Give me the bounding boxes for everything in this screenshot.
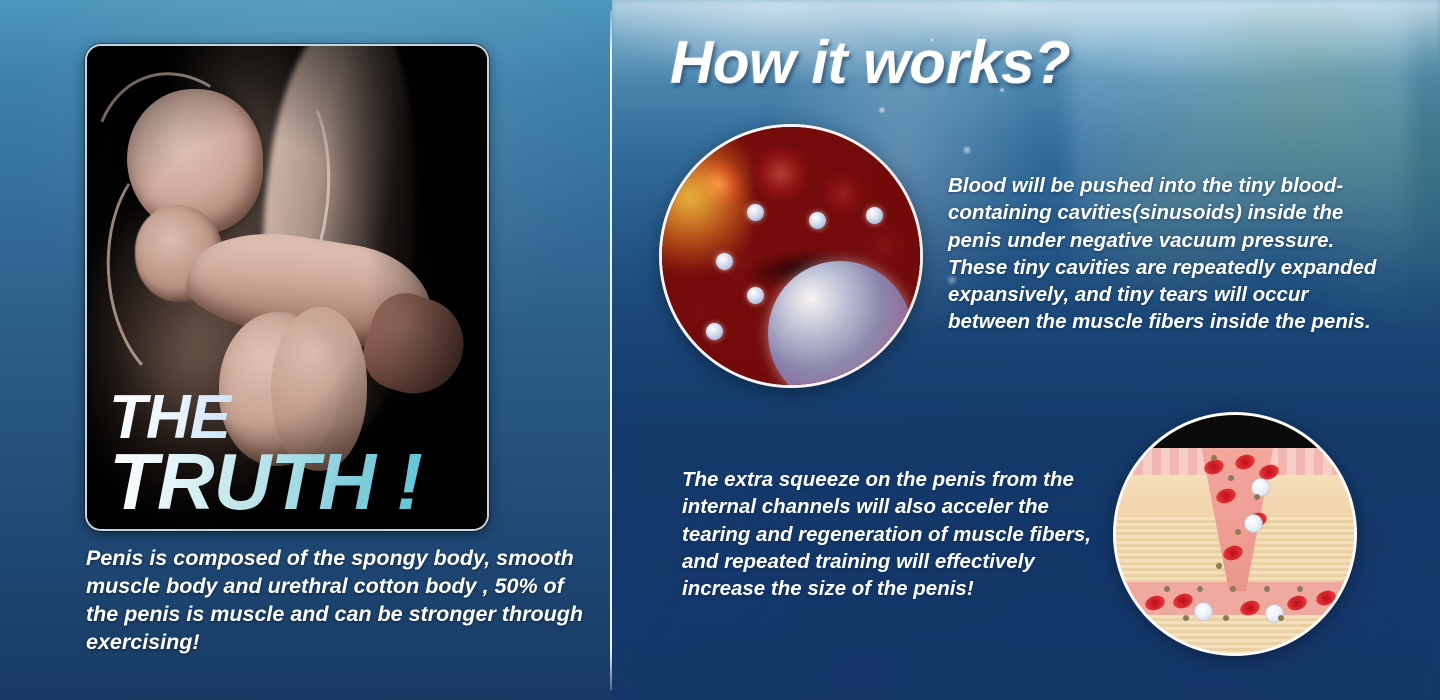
white-blood-cell [1195, 603, 1212, 620]
panel-divider [610, 10, 612, 690]
tissue-dot [1264, 586, 1270, 592]
paragraph-blood-flow: Blood will be pushed into the tiny blood… [948, 172, 1378, 336]
tissue-muscle-layer-lower [1116, 615, 1354, 653]
left-caption-text: Penis is composed of the spongy body, sm… [86, 545, 598, 657]
tissue-dot [1183, 615, 1189, 621]
blood-cells-image [659, 124, 923, 388]
tissue-dot [1223, 615, 1229, 621]
page-title: How it works? [670, 28, 1070, 97]
right-panel: How it works? Blood will be pushed into … [612, 0, 1440, 700]
white-blood-cell [747, 287, 764, 304]
paragraph-squeeze-effect: The extra squeeze on the penis from the … [682, 466, 1114, 602]
promo-banner: THE TRUTH ! Penis is composed of the spo… [0, 0, 1440, 700]
white-blood-cell [866, 207, 883, 224]
tissue-dot [1228, 475, 1234, 481]
tissue-dot [1216, 563, 1222, 569]
tissue-cross-section-image [1113, 412, 1357, 656]
tissue-dot [1254, 494, 1260, 500]
tissue-dot [1164, 586, 1170, 592]
anatomy-image-card: THE TRUTH ! [85, 44, 489, 531]
tissue-dot [1278, 615, 1284, 621]
white-blood-cell [706, 323, 723, 340]
white-blood-cell [1245, 515, 1262, 532]
truth-headline: THE TRUTH ! [109, 388, 422, 521]
left-panel: THE TRUTH ! Penis is composed of the spo… [0, 0, 612, 700]
headline-truth: TRUTH ! [109, 443, 422, 521]
